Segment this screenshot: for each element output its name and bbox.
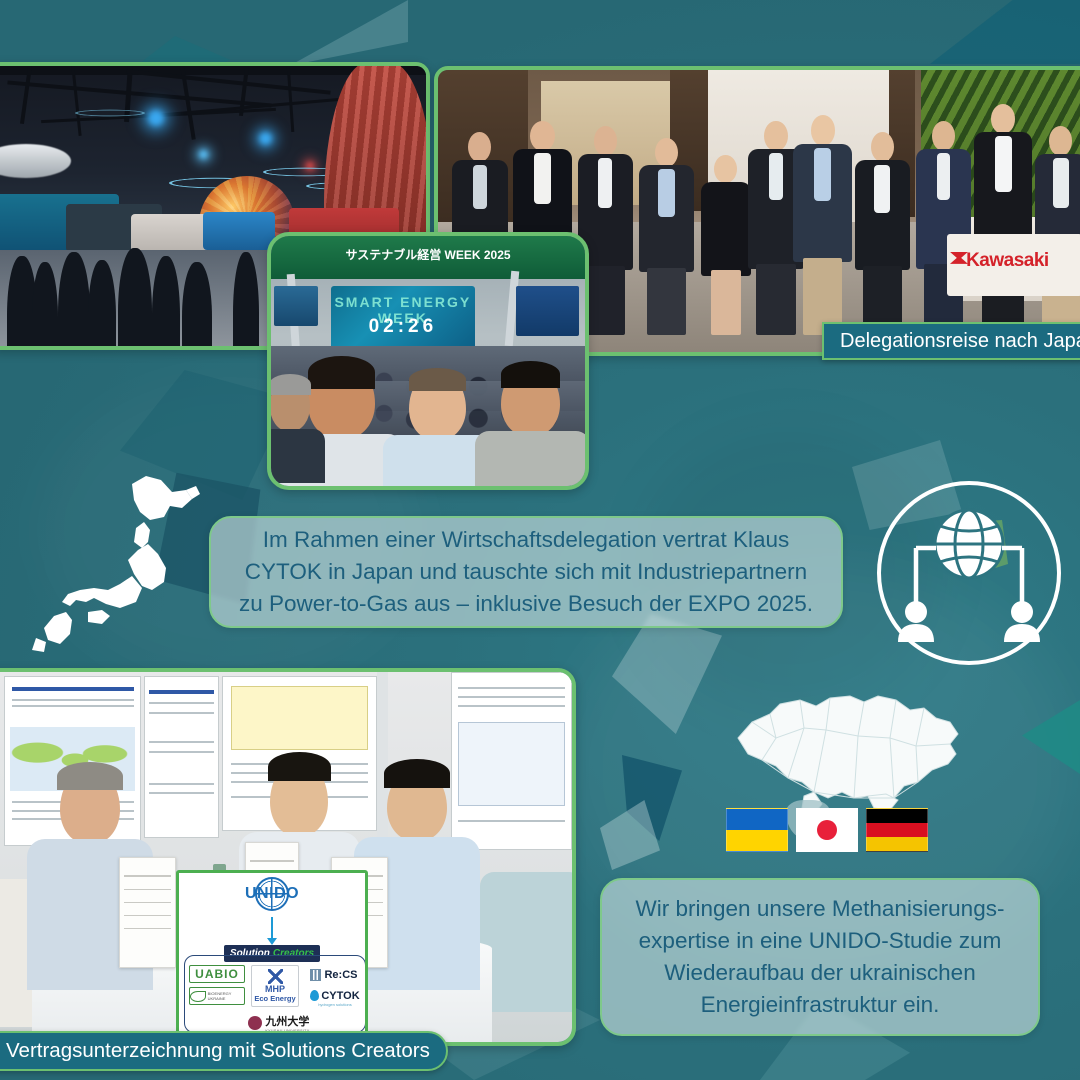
caption-signing-text: Vertragsunterzeichnung mit Solutions Cre…	[6, 1039, 430, 1063]
flag-row	[726, 808, 928, 852]
flag-germany	[866, 808, 928, 852]
panel-japan-delegation: Im Rahmen einer Wirtschaftsdelegation ve…	[209, 516, 843, 628]
recs-mark-icon	[310, 969, 321, 981]
bioenergy-ukraine-logo: BIOENERGY UKRAINE	[189, 987, 245, 1005]
caption-delegation: Delegationsreise nach Japan	[822, 322, 1080, 360]
panel-japan-line-2: CYTOK in Japan und tauschte sich mit Ind…	[245, 556, 807, 588]
caption-delegation-text: Delegationsreise nach Japan	[840, 330, 1080, 353]
cytok-sublabel: hydrogen solutions	[318, 1002, 352, 1007]
kawasaki-brand-text: Kawasaki	[966, 250, 1049, 272]
panel-unido-line-2: expertise in eine UNIDO-Studie zum	[639, 925, 1002, 957]
panel-unido-line-4: Energieinfrastruktur ein.	[701, 989, 940, 1021]
kyushu-university-logo: 九州大学 KYUSHU UNIVERSITY	[235, 1013, 323, 1033]
selfie-banner-text: サステナブル経営 WEEK 2025	[271, 246, 585, 263]
panel-unido-study: Wir bringen unsere Methanisierungs- expe…	[600, 878, 1040, 1036]
recs-logo: Re:CS	[305, 966, 363, 983]
poster-carbon-cycle	[144, 676, 219, 839]
bioenergy-ukraine-label: BIOENERGY UKRAINE	[208, 991, 244, 1001]
selfie-bystander	[267, 376, 321, 481]
selfie-smart-energy-week-photo: サステナブル経営 WEEK 2025 SMART ENERGY WEEK 02:…	[267, 232, 589, 490]
mhp-windmill-icon	[268, 969, 283, 984]
flag-ukraine	[726, 808, 788, 852]
caption-signing: Vertragsunterzeichnung mit Solutions Cre…	[0, 1031, 448, 1071]
panel-unido-line-1: Wir bringen unsere Methanisierungs-	[636, 893, 1005, 925]
global-network-icon	[874, 478, 1064, 668]
countdown-timer: 02:26	[331, 316, 475, 338]
mhp-label: MHP	[265, 984, 285, 994]
panel-unido-line-3: Wiederaufbau der ukrainischen	[664, 957, 975, 989]
eco-energy-label: Eco Energy	[254, 994, 295, 1003]
japan-map	[14, 472, 224, 652]
selfie-person-right	[485, 366, 579, 486]
selfie-person-center	[390, 371, 484, 486]
cytok-drop-icon	[310, 990, 319, 1001]
unido-arrow-icon	[271, 917, 273, 939]
ukraine-map	[718, 686, 986, 816]
mhp-eco-energy-logo: MHP Eco Energy	[251, 965, 299, 1007]
infographic-canvas: Kawasaki サステナブル経営 WEEK 2025 SMART ENERGY…	[0, 0, 1080, 1080]
uabio-label: UABIO	[195, 967, 239, 981]
unido-partner-diagram: UNIDO Solution Creators UABIO BIOENERGY …	[176, 870, 368, 1036]
panel-japan-line-1: Im Rahmen einer Wirtschaftsdelegation ve…	[263, 524, 789, 556]
kyushu-label: 九州大学	[265, 1013, 309, 1029]
hall-signage-left	[274, 286, 318, 326]
cytok-logo: CYTOK hydrogen solutions	[305, 987, 365, 1009]
recs-label: Re:CS	[324, 969, 357, 981]
kyushu-seal-icon	[248, 1016, 262, 1030]
panel-japan-line-3: zu Power-to-Gas aus – inklusive Besuch d…	[239, 588, 813, 620]
signed-document-left	[119, 857, 176, 968]
chair-right	[480, 872, 576, 1013]
cytok-label: CYTOK	[321, 990, 359, 1002]
bioenergy-leaf-icon	[190, 991, 206, 1002]
uabio-logo: UABIO	[189, 965, 245, 983]
flag-japan	[796, 808, 858, 852]
unido-wordmark: UNIDO	[179, 885, 365, 903]
hall-signage-right	[516, 286, 579, 336]
